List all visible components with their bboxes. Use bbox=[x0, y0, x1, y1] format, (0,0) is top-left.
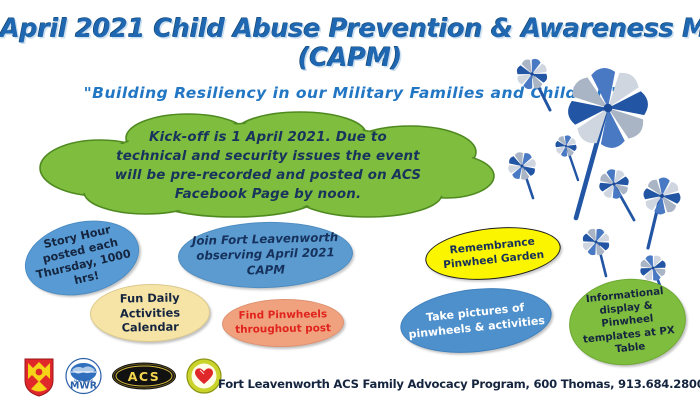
bubble-remembrance-garden: Remembrance Pinwheel Garden bbox=[423, 221, 564, 286]
title-line-2: (CAPM) bbox=[0, 45, 700, 73]
bubble-informational-display-label: Informational display & Pinwheel templat… bbox=[567, 283, 688, 361]
announcement-text: Kick-off is 1 April 2021. Due to technic… bbox=[38, 128, 498, 204]
announcement-line-4: Facebook Page by noon. bbox=[38, 185, 498, 204]
family-advocacy-heart-seal-logo bbox=[186, 356, 222, 401]
bubble-informational-display: Informational display & Pinwheel templat… bbox=[565, 273, 690, 371]
bubble-find-pinwheels: Find Pinwheels throughout post bbox=[222, 298, 345, 348]
announcement-line-3: will be pre-recorded and posted on ACS bbox=[38, 166, 498, 185]
bubble-join-capm-label: Join Fort Leavenworth observing April 20… bbox=[178, 230, 352, 280]
bubble-fun-daily-calendar: Fun Daily Activities Calendar bbox=[90, 283, 211, 343]
army-garrison-emblem-logo bbox=[22, 355, 56, 402]
poster-subtitle: "Building Resiliency in our Military Fam… bbox=[0, 84, 700, 102]
bubble-fun-daily-calendar-label: Fun Daily Activities Calendar bbox=[91, 290, 210, 337]
announcement-cloud: Kick-off is 1 April 2021. Due to technic… bbox=[38, 110, 498, 218]
announcement-line-1: Kick-off is 1 April 2021. Due to bbox=[38, 128, 498, 147]
mwr-globe-icon: MWR U.S. ARMY bbox=[65, 356, 102, 396]
bubble-take-pictures-label: Take pictures of pinwheels & activities bbox=[400, 299, 552, 343]
army-mwr-logo: MWR U.S. ARMY bbox=[65, 356, 102, 401]
poster-canvas: April 2021 Child Abuse Prevention & Awar… bbox=[0, 0, 700, 413]
logo-row: MWR U.S. ARMY ACS bbox=[22, 355, 222, 402]
svg-text:U.S. ARMY: U.S. ARMY bbox=[74, 379, 94, 383]
acs-oval-icon: ACS bbox=[111, 361, 177, 391]
page-title: April 2021 Child Abuse Prevention & Awar… bbox=[0, 16, 700, 72]
heart-seal-icon bbox=[186, 356, 222, 396]
acs-logo: ACS bbox=[111, 361, 177, 396]
acs-logo-text: ACS bbox=[128, 369, 161, 384]
bubble-take-pictures: Take pictures of pinwheels & activities bbox=[397, 281, 555, 360]
announcement-line-2: technical and security issues the event bbox=[38, 147, 498, 166]
title-line-1: April 2021 Child Abuse Prevention & Awar… bbox=[0, 16, 700, 44]
footer-contact-line: Fort Leavenworth ACS Family Advocacy Pro… bbox=[218, 377, 700, 391]
army-garrison-emblem-icon bbox=[22, 355, 56, 397]
bubble-find-pinwheels-label: Find Pinwheels throughout post bbox=[223, 308, 343, 337]
bubble-join-capm: Join Fort Leavenworth observing April 20… bbox=[177, 220, 354, 291]
bubble-remembrance-garden-label: Remembrance Pinwheel Garden bbox=[425, 233, 561, 275]
